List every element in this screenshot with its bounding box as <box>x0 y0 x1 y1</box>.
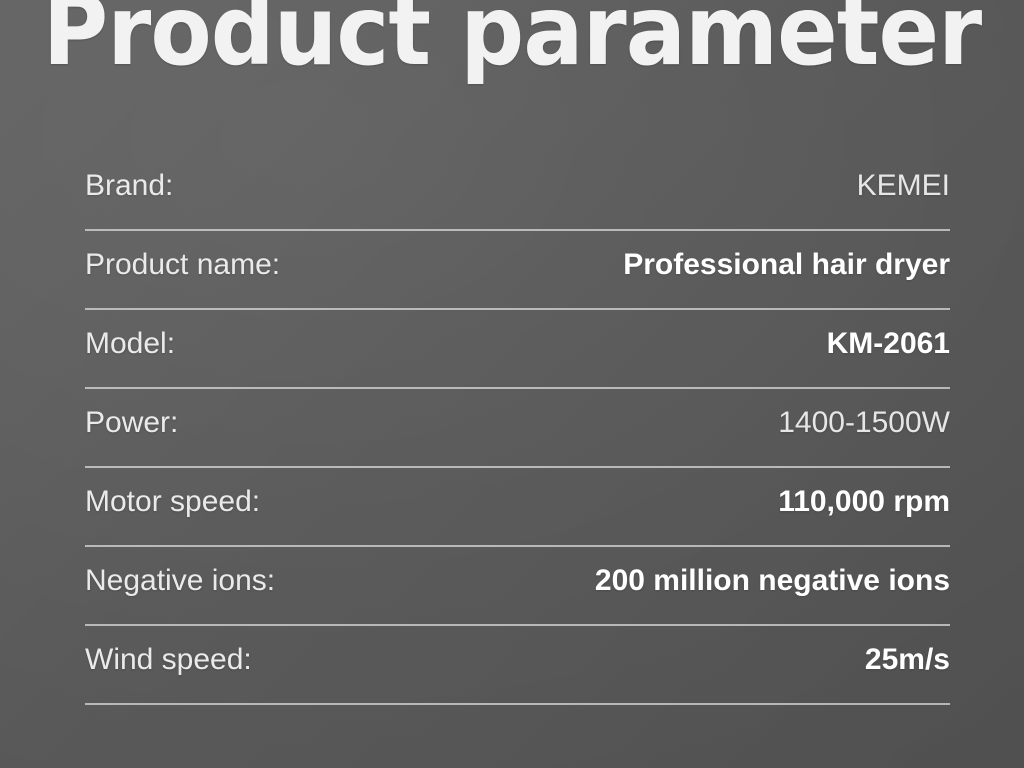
spec-value-brand: KEMEI <box>857 171 950 201</box>
table-row: Model: KM-2061 <box>85 310 950 389</box>
table-row: Motor speed: 110,000 rpm <box>85 468 950 547</box>
spec-value-wind-speed: 25m/s <box>865 645 950 675</box>
spec-value-model: KM-2061 <box>827 329 950 359</box>
spec-value-negative-ions: 200 million negative ions <box>595 566 950 596</box>
page-title: Product parameter <box>36 0 988 86</box>
spec-label-power: Power: <box>85 408 178 438</box>
table-row: Wind speed: 25m/s <box>85 626 950 705</box>
table-row: Power: 1400-1500W <box>85 389 950 468</box>
table-row: Negative ions: 200 million negative ions <box>85 547 950 626</box>
table-row: Product name: Professional hair dryer <box>85 231 950 310</box>
spec-label-wind-speed: Wind speed: <box>85 645 252 675</box>
spec-label-negative-ions: Negative ions: <box>85 566 275 596</box>
spec-label-motor-speed: Motor speed: <box>85 487 260 517</box>
spec-label-product-name: Product name: <box>85 250 280 280</box>
spec-label-brand: Brand: <box>85 171 173 201</box>
spec-value-power: 1400-1500W <box>778 408 950 438</box>
spec-label-model: Model: <box>85 329 175 359</box>
spec-table: Brand: KEMEI Product name: Professional … <box>85 152 950 705</box>
spec-value-motor-speed: 110,000 rpm <box>778 487 950 517</box>
spec-value-product-name: Professional hair dryer <box>623 250 950 280</box>
product-parameter-slide: Product parameter Brand: KEMEI Product n… <box>0 0 1024 768</box>
table-row: Brand: KEMEI <box>85 152 950 231</box>
